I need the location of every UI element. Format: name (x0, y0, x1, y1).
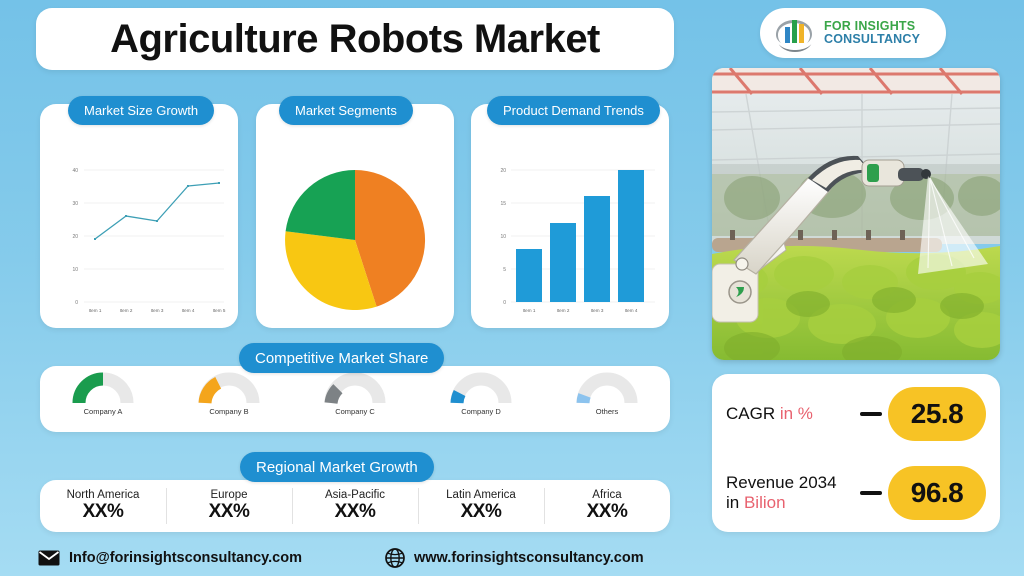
stat-label-revenue: Revenue 2034 in Bilion (726, 473, 854, 512)
logo-wordmark: FOR INSIGHTS CONSULTANCY (824, 20, 920, 46)
footer-website-text: www.forinsightsconsultancy.com (414, 550, 644, 566)
bar-chart: 20 15 10 5 0 Item 1 Item 2 Item 3 Item 4 (477, 130, 663, 322)
bar-chart-svg: 20 15 10 5 0 Item 1 Item 2 Item 3 Item 4 (477, 130, 663, 322)
stat-label-line2-accent: Bilion (744, 493, 786, 512)
badge-regional-market-growth: Regional Market Growth (240, 452, 434, 482)
dash-separator-icon (860, 491, 882, 495)
card-product-demand-trends: 20 15 10 5 0 Item 1 Item 2 Item 3 Item 4 (471, 104, 669, 328)
ytick-30: 30 (72, 201, 78, 207)
ytick-40: 40 (72, 168, 78, 174)
badge-market-size-growth: Market Size Growth (68, 96, 214, 125)
region-name: Africa (592, 489, 621, 501)
badge-product-demand-trends: Product Demand Trends (487, 96, 660, 125)
globe-icon (385, 548, 405, 568)
card-competitive-market-share: Company A Company B Company C (40, 366, 670, 432)
footer-website[interactable]: www.forinsightsconsultancy.com (385, 548, 644, 568)
gauge-label-d: Company D (461, 407, 501, 416)
region-value: XX% (587, 501, 628, 523)
gauge-label-others: Others (596, 407, 619, 416)
gauge-arc-a (72, 371, 134, 405)
xtick-2: Item 2 (557, 308, 570, 313)
region-europe: Europe XX% (166, 480, 292, 532)
pie-chart (262, 130, 448, 322)
gauge-label-c: Company C (335, 407, 375, 416)
bar-chart-swoosh-logo-icon (772, 13, 818, 53)
stat-label-line2: in (726, 493, 744, 512)
xtick-4: Item 4 (182, 308, 195, 313)
stat-value-cagr: 25.8 (911, 398, 964, 430)
bar-3 (584, 196, 610, 302)
xtick-5: Item 5 (213, 308, 226, 313)
gauge-company-a[interactable]: Company A (40, 366, 166, 432)
dash-separator-icon (860, 412, 882, 416)
envelope-icon (38, 550, 60, 566)
card-market-segments (256, 104, 454, 328)
gauge-company-c[interactable]: Company C (292, 366, 418, 432)
footer: Info@forinsightsconsultancy.com www.fori… (0, 540, 1024, 576)
stat-row-cagr: CAGR in % 25.8 (712, 374, 1000, 453)
xtick-4: Item 4 (625, 308, 638, 313)
gauge-arc-others (576, 371, 638, 405)
line-chart-svg: 40 30 20 10 0 Item 1 Item 2 Item 3 I (46, 130, 232, 322)
region-north-america: North America XX% (40, 480, 166, 532)
stat-label-main: CAGR (726, 404, 780, 423)
page-title: Agriculture Robots Market (110, 17, 600, 62)
greenhouse-robot-photo (712, 68, 1000, 360)
pie-chart-svg (262, 130, 448, 322)
gauge-arc-b (198, 371, 260, 405)
region-latin-america: Latin America XX% (418, 480, 544, 532)
badge-market-segments: Market Segments (279, 96, 413, 125)
pie-slice-3 (286, 170, 355, 240)
page-title-card: Agriculture Robots Market (36, 8, 674, 70)
ytick-20: 20 (72, 234, 78, 240)
region-row: North America XX% Europe XX% Asia-Pacifi… (40, 480, 670, 532)
gauge-company-b[interactable]: Company B (166, 366, 292, 432)
bar-4 (618, 170, 644, 302)
gauge-arc-c (324, 371, 386, 405)
gauge-label-b: Company B (209, 407, 248, 416)
gauge-label-a: Company A (84, 407, 123, 416)
stat-row-revenue: Revenue 2034 in Bilion 96.8 (712, 453, 1000, 532)
region-value: XX% (83, 501, 124, 523)
infographic-canvas: Agriculture Robots Market FOR INSIGHTS C… (0, 0, 1024, 576)
ytick-0: 0 (75, 300, 78, 306)
card-market-size-growth: 40 30 20 10 0 Item 1 Item 2 Item 3 I (40, 104, 238, 328)
xtick-1: Item 1 (89, 308, 102, 313)
region-name: Europe (210, 489, 247, 501)
ytick-20: 20 (500, 168, 506, 174)
brand-logo[interactable]: FOR INSIGHTS CONSULTANCY (760, 8, 946, 58)
line-series (95, 183, 219, 239)
region-name: Latin America (446, 489, 516, 501)
xtick-2: Item 2 (120, 308, 133, 313)
region-value: XX% (335, 501, 376, 523)
ytick-15: 15 (500, 201, 506, 207)
photo-illustration (712, 68, 1000, 360)
stat-label-accent: in % (780, 404, 813, 423)
region-name: North America (67, 489, 140, 501)
region-africa: Africa XX% (544, 480, 670, 532)
stat-value-pill-revenue: 96.8 (888, 466, 986, 520)
gauge-company-d[interactable]: Company D (418, 366, 544, 432)
bar-1 (516, 249, 542, 302)
bar-2 (550, 223, 576, 302)
line-chart: 40 30 20 10 0 Item 1 Item 2 Item 3 I (46, 130, 232, 322)
region-value: XX% (461, 501, 502, 523)
region-value: XX% (209, 501, 250, 523)
ytick-10: 10 (500, 234, 506, 240)
gauge-row: Company A Company B Company C (40, 366, 670, 432)
badge-competitive-market-share: Competitive Market Share (239, 343, 444, 373)
gauge-arc-d (450, 371, 512, 405)
xtick-3: Item 3 (151, 308, 164, 313)
stat-label-main: Revenue 2034 (726, 473, 837, 492)
ytick-5: 5 (503, 267, 506, 273)
footer-email[interactable]: Info@forinsightsconsultancy.com (38, 550, 302, 566)
stat-label-cagr: CAGR in % (726, 404, 854, 424)
card-regional-market-growth: North America XX% Europe XX% Asia-Pacifi… (40, 480, 670, 532)
stat-value-pill-cagr: 25.8 (888, 387, 986, 441)
logo-line-2: CONSULTANCY (824, 33, 920, 46)
xtick-3: Item 3 (591, 308, 604, 313)
gauge-others[interactable]: Others (544, 366, 670, 432)
line-markers (94, 182, 220, 240)
ytick-0: 0 (503, 300, 506, 306)
region-asia-pacific: Asia-Pacific XX% (292, 480, 418, 532)
xtick-1: Item 1 (523, 308, 536, 313)
region-name: Asia-Pacific (325, 489, 385, 501)
ytick-10: 10 (72, 267, 78, 273)
footer-email-text: Info@forinsightsconsultancy.com (69, 550, 302, 566)
stat-value-revenue: 96.8 (911, 477, 964, 509)
card-key-stats: CAGR in % 25.8 Revenue 2034 in Bilion 96… (712, 374, 1000, 532)
